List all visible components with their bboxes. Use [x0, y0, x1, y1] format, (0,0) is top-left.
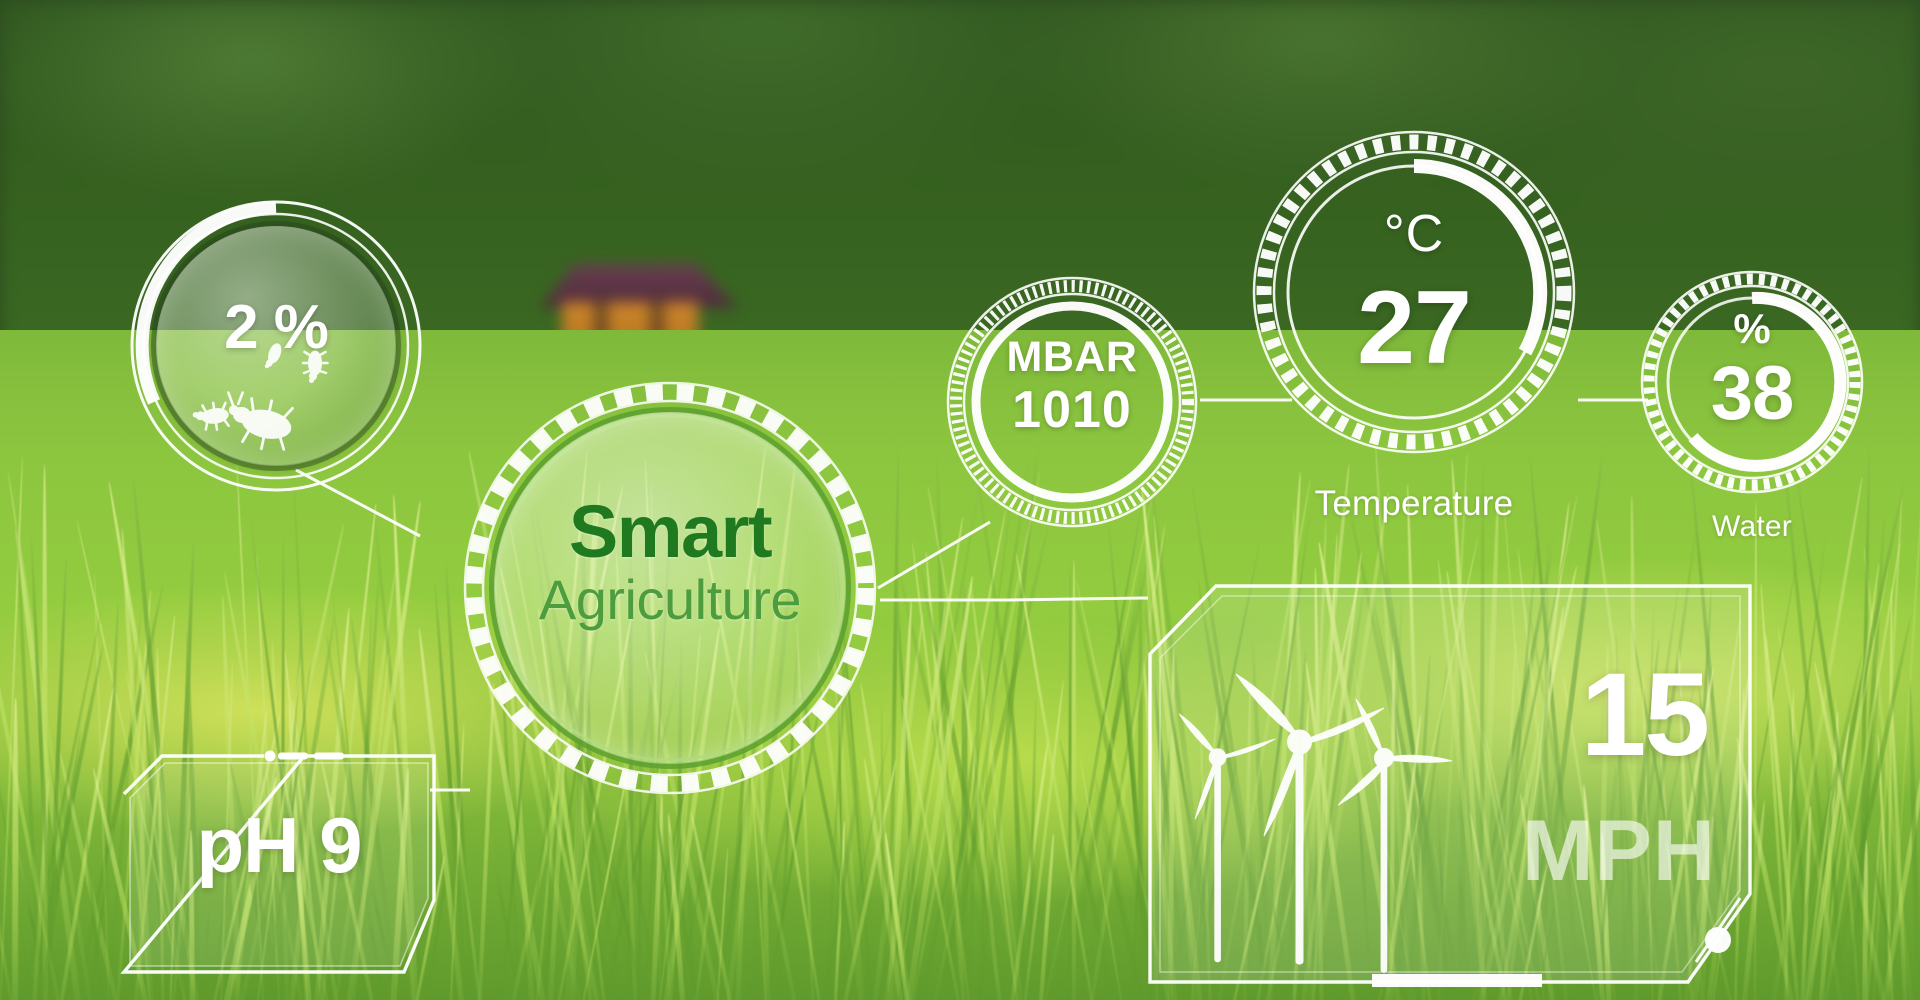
smart-agriculture-node[interactable]: Smart Agriculture [460, 378, 880, 798]
insects-icon [200, 366, 360, 456]
temperature-label: Temperature [1248, 484, 1580, 524]
temperature-gauge[interactable]: °C 27 [1248, 126, 1580, 458]
center-node-text: Smart Agriculture [460, 496, 880, 631]
pest-gauge[interactable]: 2 % [126, 196, 426, 496]
water-unit: % [1638, 308, 1866, 350]
soil-ph-panel[interactable]: pH 9 [118, 748, 440, 980]
brand-line-1: Smart [460, 496, 880, 569]
pressure-unit: MBAR [942, 334, 1202, 381]
wind-turbine-icon [1192, 634, 1522, 964]
wind-value: 15 [1581, 656, 1708, 774]
pressure-value: 1010 [942, 381, 1202, 439]
soil-ph-value: pH 9 [118, 800, 440, 891]
wind-speed-panel[interactable]: 15 MPH [1140, 578, 1760, 990]
temperature-value: 27 [1248, 276, 1580, 380]
water-value: 38 [1638, 356, 1866, 432]
temperature-unit: °C [1248, 204, 1580, 264]
pressure-gauge[interactable]: MBAR 1010 [942, 272, 1202, 532]
smart-agriculture-dashboard: 2 % [0, 0, 1920, 1000]
water-label: Water [1638, 510, 1866, 544]
pressure-gauge-text: MBAR 1010 [942, 334, 1202, 440]
brand-line-2: Agriculture [460, 569, 880, 632]
wind-unit: MPH [1522, 808, 1716, 894]
water-gauge[interactable]: % 38 [1638, 268, 1866, 496]
